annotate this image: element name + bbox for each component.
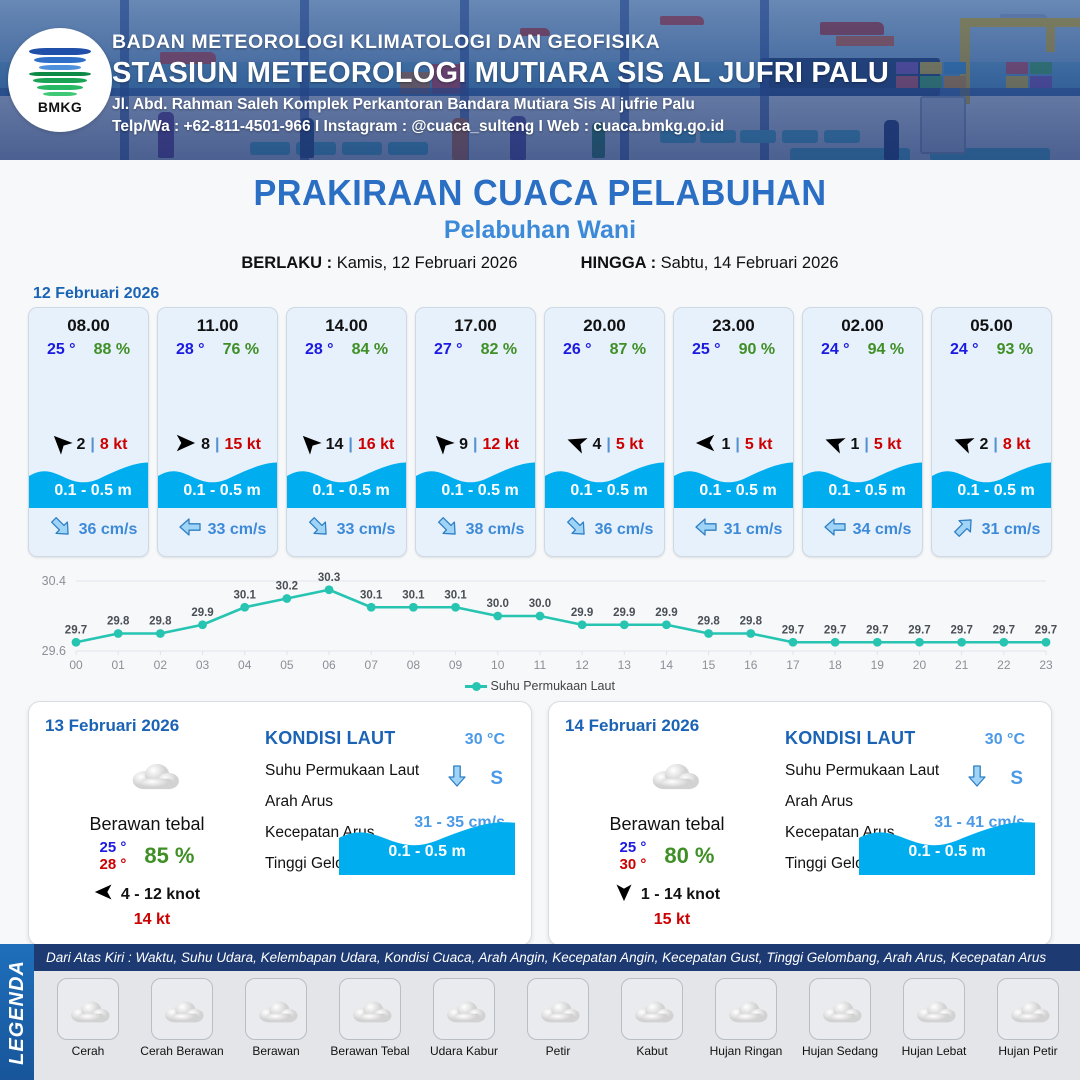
legend-item-label: Kabut xyxy=(636,1044,667,1058)
panel-left-column: Berawan tebal 25 ° 30 ° 80 % 1 - 14 knot… xyxy=(567,742,767,929)
svg-text:29.9: 29.9 xyxy=(571,607,593,619)
legend-item-label: Hujan Petir xyxy=(998,1044,1057,1058)
svg-text:30.2: 30.2 xyxy=(276,581,298,593)
wind-direction-value: 9 xyxy=(459,436,468,454)
wind-direction-arrow-icon xyxy=(432,432,454,459)
svg-text:17: 17 xyxy=(786,658,800,672)
svg-text:23: 23 xyxy=(1039,658,1053,672)
card-temp-hum: 25 ° 90 % xyxy=(692,341,775,359)
sea-label-sst: Suhu Permukaan Laut xyxy=(265,762,517,780)
current-direction-arrow-icon xyxy=(49,515,73,544)
legend-icon-row: Cerah Cerah Berawan Berawan Berawan Teba… xyxy=(34,971,1080,1058)
sea-condition-block: KONDISI LAUT Suhu Permukaan Laut Arah Ar… xyxy=(265,728,517,873)
svg-text:08: 08 xyxy=(407,658,421,672)
wave-height-value: 0.1 - 0.5 m xyxy=(932,482,1052,500)
svg-text:19: 19 xyxy=(871,658,885,672)
valid-to-label: HINGGA : xyxy=(581,254,656,272)
bmkg-logo: BMKG xyxy=(8,28,112,132)
weather-hujan-lebat-icon xyxy=(903,978,965,1040)
panel-gust: 14 kt xyxy=(57,911,247,929)
svg-text:04: 04 xyxy=(238,658,252,672)
panel-wind: 1 - 14 knot xyxy=(567,882,767,907)
legend-item: Hujan Lebat xyxy=(890,978,978,1058)
legend-item-label: Hujan Lebat xyxy=(902,1044,967,1058)
wind-gust-value: 8 kt xyxy=(1003,436,1031,454)
card-time: 02.00 xyxy=(841,316,884,336)
svg-text:20: 20 xyxy=(913,658,927,672)
svg-text:29.9: 29.9 xyxy=(191,607,213,619)
current-direction-arrow-icon xyxy=(694,515,718,544)
weather-udara-kabur-icon xyxy=(803,365,922,427)
legend-item: Udara Kabur xyxy=(420,978,508,1058)
svg-text:03: 03 xyxy=(196,658,210,672)
current-direction-arrow-icon xyxy=(307,515,331,544)
svg-text:06: 06 xyxy=(322,658,336,672)
hourly-card: 11.00 28 ° 76 % 8 | 15 kt 0.1 - 0.5 m 33… xyxy=(157,307,278,557)
card-humidity: 87 % xyxy=(610,341,646,359)
panel-temp-range: 25 ° 28 ° xyxy=(99,839,126,873)
legend-item-label: Hujan Ringan xyxy=(710,1044,783,1058)
weather-hujan-sedang-icon xyxy=(809,978,871,1040)
wind-separator: | xyxy=(348,436,352,454)
wind-gust-value: 16 kt xyxy=(358,436,394,454)
legend-item: Hujan Ringan xyxy=(702,978,790,1058)
station-name: STASIUN METEOROLOGI MUTIARA SIS AL JUFRI… xyxy=(112,55,1072,91)
card-wind: 14 | 16 kt xyxy=(299,433,395,457)
current-speed-value: 36 cm/s xyxy=(79,521,138,539)
current-direction-arrow-icon xyxy=(178,515,202,544)
valid-from-label: BERLAKU : xyxy=(241,254,332,272)
card-temperature: 28 ° xyxy=(176,341,205,359)
svg-text:30.1: 30.1 xyxy=(234,589,257,601)
legend-item-label: Udara Kabur xyxy=(430,1044,498,1058)
card-current: 33 cm/s xyxy=(287,515,407,544)
hourly-card: 02.00 24 ° 94 % 1 | 5 kt 0.1 - 0.5 m 34 … xyxy=(802,307,923,557)
svg-text:29.7: 29.7 xyxy=(950,624,972,636)
card-temperature: 24 ° xyxy=(950,341,979,359)
wind-gust-value: 15 kt xyxy=(224,436,260,454)
current-speed-value: 36 cm/s xyxy=(595,521,654,539)
legend-item: Berawan xyxy=(232,978,320,1058)
wind-direction-value: 1 xyxy=(722,436,731,454)
legend-item: Petir xyxy=(514,978,602,1058)
legend-item-label: Cerah xyxy=(72,1044,105,1058)
card-current: 31 cm/s xyxy=(932,515,1052,544)
svg-text:29.8: 29.8 xyxy=(740,616,763,628)
wind-separator: | xyxy=(735,436,739,454)
hourly-card: 17.00 27 ° 82 % 9 | 12 kt 0.1 - 0.5 m 38… xyxy=(415,307,536,557)
card-temperature: 25 ° xyxy=(47,341,76,359)
current-direction-arrow-icon xyxy=(565,515,589,544)
wave-height-value: 0.1 - 0.5 m xyxy=(158,482,278,500)
legend-item-label: Berawan xyxy=(252,1044,299,1058)
weather-berawan-tebal-icon xyxy=(339,978,401,1040)
wind-direction-value: 14 xyxy=(326,436,344,454)
svg-text:29.8: 29.8 xyxy=(149,616,172,628)
weather-hujan-ringan-icon xyxy=(932,365,1051,427)
page-header: BMKG BADAN METEOROLOGI KLIMATOLOGI DAN G… xyxy=(0,0,1080,160)
wind-direction-value: 2 xyxy=(980,436,989,454)
legend-item-label: Hujan Sedang xyxy=(802,1044,878,1058)
legend-item: Cerah xyxy=(44,978,132,1058)
svg-text:30.0: 30.0 xyxy=(487,598,509,610)
card-temp-hum: 27 ° 82 % xyxy=(434,341,517,359)
wave-height-value: 0.1 - 0.5 m xyxy=(29,482,149,500)
panel-left-column: Berawan tebal 25 ° 28 ° 85 % 4 - 12 knot… xyxy=(47,742,247,929)
hourly-day-label: 12 Februari 2026 xyxy=(33,285,1080,303)
legend-item: Hujan Sedang xyxy=(796,978,884,1058)
panel-temp-max: 30 ° xyxy=(619,856,646,873)
panel-humidity: 85 % xyxy=(144,843,194,869)
wind-direction-arrow-icon xyxy=(50,432,72,459)
card-humidity: 88 % xyxy=(94,341,130,359)
sea-current-direction-arrow-icon xyxy=(445,764,469,793)
card-temperature: 24 ° xyxy=(821,341,850,359)
svg-text:29.9: 29.9 xyxy=(655,607,677,619)
svg-text:16: 16 xyxy=(744,658,758,672)
bmkg-logo-text: BMKG xyxy=(38,99,82,115)
hourly-card: 08.00 25 ° 88 % 2 | 8 kt 0.1 - 0.5 m 36 … xyxy=(28,307,149,557)
wind-direction-arrow-icon xyxy=(953,432,975,459)
hourly-card: 05.00 24 ° 93 % 2 | 8 kt 0.1 - 0.5 m 31 … xyxy=(931,307,1052,557)
wind-separator: | xyxy=(606,436,610,454)
current-speed-value: 38 cm/s xyxy=(466,521,525,539)
wave-height-value: 0.1 - 0.5 m xyxy=(803,482,923,500)
card-time: 11.00 xyxy=(197,316,239,336)
svg-text:05: 05 xyxy=(280,658,294,672)
sea-value-sst: 30 °C xyxy=(985,731,1025,749)
card-wind: 1 | 5 kt xyxy=(695,433,773,457)
legend-body: Dari Atas Kiri : Waktu, Suhu Udara, Kele… xyxy=(34,944,1080,1080)
weather-udara-kabur-icon xyxy=(433,978,495,1040)
weather-berawan-icon xyxy=(545,365,664,427)
wind-direction-arrow-icon xyxy=(174,432,196,459)
card-temperature: 26 ° xyxy=(563,341,592,359)
wind-direction-arrow-icon xyxy=(94,882,114,907)
valid-from-value: Kamis, 12 Februari 2026 xyxy=(337,254,518,272)
daily-forecast-panel: 14 Februari 2026 Berawan tebal 25 ° 30 °… xyxy=(548,701,1052,946)
card-temp-hum: 26 ° 87 % xyxy=(563,341,646,359)
sea-value-wave-height: 0.1 - 0.5 m xyxy=(859,843,1035,861)
sea-label-current-direction: Arah Arus xyxy=(785,793,1037,811)
svg-text:29.9: 29.9 xyxy=(613,607,635,619)
current-direction-arrow-icon xyxy=(436,515,460,544)
svg-text:29.7: 29.7 xyxy=(908,624,930,636)
panel-gust: 15 kt xyxy=(577,911,767,929)
panel-temp-max: 28 ° xyxy=(99,856,126,873)
legend-item-label: Cerah Berawan xyxy=(140,1044,223,1058)
legend-item-label: Petir xyxy=(546,1044,571,1058)
panel-temp-min: 25 ° xyxy=(99,839,126,856)
sea-value-sst: 30 °C xyxy=(465,731,505,749)
sea-label-current-direction: Arah Arus xyxy=(265,793,517,811)
wind-gust-value: 5 kt xyxy=(616,436,644,454)
legend-sidebar: LEGENDA xyxy=(0,944,34,1080)
wind-direction-arrow-icon xyxy=(299,432,321,459)
card-wind: 9 | 12 kt xyxy=(432,433,519,457)
wind-direction-value: 8 xyxy=(201,436,210,454)
card-humidity: 84 % xyxy=(352,341,388,359)
weather-berawan-tebal-icon xyxy=(579,742,767,804)
bmkg-logo-mark xyxy=(29,46,91,98)
wind-separator: | xyxy=(864,436,868,454)
legend-item-label: Berawan Tebal xyxy=(330,1044,409,1058)
hourly-card: 23.00 25 ° 90 % 1 | 5 kt 0.1 - 0.5 m 31 … xyxy=(673,307,794,557)
sea-condition-block: KONDISI LAUT Suhu Permukaan Laut Arah Ar… xyxy=(785,728,1037,873)
svg-text:00: 00 xyxy=(69,658,83,672)
svg-text:09: 09 xyxy=(449,658,463,672)
weather-cerah-berawan-icon xyxy=(416,365,535,427)
svg-text:30.4: 30.4 xyxy=(42,574,66,588)
legend-caption: Dari Atas Kiri : Waktu, Suhu Udara, Kele… xyxy=(34,944,1080,971)
card-time: 08.00 xyxy=(67,316,110,336)
wind-separator: | xyxy=(90,436,94,454)
header-text-block: BADAN METEOROLOGI KLIMATOLOGI DAN GEOFIS… xyxy=(112,30,1072,138)
wind-direction-value: 4 xyxy=(593,436,602,454)
hourly-card: 14.00 28 ° 84 % 14 | 16 kt 0.1 - 0.5 m 3… xyxy=(286,307,407,557)
svg-text:10: 10 xyxy=(491,658,505,672)
svg-text:29.6: 29.6 xyxy=(42,644,66,658)
card-temp-hum: 28 ° 76 % xyxy=(176,341,259,359)
panel-humidity: 80 % xyxy=(664,843,714,869)
sea-current-direction-arrow-icon xyxy=(965,764,989,793)
svg-text:29.7: 29.7 xyxy=(1035,624,1057,636)
weather-hujan-petir-icon xyxy=(997,978,1059,1040)
page-title: PRAKIRAAN CUACA PELABUHAN xyxy=(27,172,1053,214)
weather-berawan-icon xyxy=(29,365,148,427)
weather-berawan-sun-icon xyxy=(245,978,307,1040)
weather-cerah-icon xyxy=(57,978,119,1040)
title-block: PRAKIRAAN CUACA PELABUHAN Pelabuhan Wani… xyxy=(0,160,1080,273)
wind-direction-arrow-icon xyxy=(614,882,634,907)
card-current: 31 cm/s xyxy=(674,515,794,544)
daily-forecast-panel: 13 Februari 2026 Berawan tebal 25 ° 28 °… xyxy=(28,701,532,946)
card-time: 23.00 xyxy=(712,316,755,336)
svg-text:22: 22 xyxy=(997,658,1011,672)
card-wind: 8 | 15 kt xyxy=(174,433,261,457)
wind-gust-value: 8 kt xyxy=(100,436,128,454)
svg-text:13: 13 xyxy=(618,658,632,672)
card-time: 17.00 xyxy=(454,316,497,336)
wind-direction-value: 1 xyxy=(851,436,860,454)
svg-text:29.7: 29.7 xyxy=(824,624,846,636)
svg-text:21: 21 xyxy=(955,658,969,672)
current-speed-value: 33 cm/s xyxy=(337,521,396,539)
card-temp-hum: 25 ° 88 % xyxy=(47,341,130,359)
svg-text:30.3: 30.3 xyxy=(318,572,340,584)
wind-separator: | xyxy=(993,436,997,454)
wave-height-value: 0.1 - 0.5 m xyxy=(416,482,536,500)
card-temperature: 27 ° xyxy=(434,341,463,359)
current-speed-value: 34 cm/s xyxy=(853,521,912,539)
wind-gust-value: 12 kt xyxy=(482,436,518,454)
svg-text:14: 14 xyxy=(660,658,674,672)
panel-temp-hum: 25 ° 30 ° 80 % xyxy=(567,839,767,873)
current-direction-arrow-icon xyxy=(952,515,976,544)
panel-wind-range: 4 - 12 knot xyxy=(121,886,200,904)
weather-hujan-ringan-icon xyxy=(715,978,777,1040)
card-temp-hum: 24 ° 94 % xyxy=(821,341,904,359)
wind-direction-arrow-icon xyxy=(695,432,717,459)
hourly-forecast-row: 08.00 25 ° 88 % 2 | 8 kt 0.1 - 0.5 m 36 … xyxy=(0,307,1080,557)
card-humidity: 93 % xyxy=(997,341,1033,359)
card-wind: 1 | 5 kt xyxy=(824,433,902,457)
sea-value-wave-height: 0.1 - 0.5 m xyxy=(339,843,515,861)
wind-direction-arrow-icon xyxy=(824,432,846,459)
panel-temp-range: 25 ° 30 ° xyxy=(619,839,646,873)
validity-row: BERLAKU : Kamis, 12 Februari 2026 HINGGA… xyxy=(0,254,1080,273)
svg-text:30.0: 30.0 xyxy=(529,598,551,610)
card-current: 34 cm/s xyxy=(803,515,923,544)
svg-text:30.1: 30.1 xyxy=(444,589,467,601)
legend-sidebar-title: LEGENDA xyxy=(6,960,29,1065)
hourly-card: 20.00 26 ° 87 % 4 | 5 kt 0.1 - 0.5 m 36 … xyxy=(544,307,665,557)
svg-text:07: 07 xyxy=(365,658,379,672)
svg-text:29.7: 29.7 xyxy=(65,624,87,636)
current-speed-value: 31 cm/s xyxy=(724,521,783,539)
panel-wind-range: 1 - 14 knot xyxy=(641,886,720,904)
daily-forecast-row: 13 Februari 2026 Berawan tebal 25 ° 28 °… xyxy=(0,693,1080,946)
weather-kabut-icon xyxy=(621,978,683,1040)
station-contact: Telp/Wa : +62-811-4501-966 I Instagram :… xyxy=(112,116,1072,138)
card-wind: 2 | 8 kt xyxy=(953,433,1031,457)
card-temperature: 28 ° xyxy=(305,341,334,359)
card-current: 36 cm/s xyxy=(29,515,149,544)
current-speed-value: 31 cm/s xyxy=(982,521,1041,539)
card-temp-hum: 28 ° 84 % xyxy=(305,341,388,359)
panel-temp-hum: 25 ° 28 ° 85 % xyxy=(47,839,247,873)
org-name: BADAN METEOROLOGI KLIMATOLOGI DAN GEOFIS… xyxy=(112,30,1072,54)
legend-item: Berawan Tebal xyxy=(326,978,414,1058)
svg-text:15: 15 xyxy=(702,658,716,672)
svg-text:29.8: 29.8 xyxy=(697,616,720,628)
svg-text:30.1: 30.1 xyxy=(402,589,425,601)
wind-separator: | xyxy=(473,436,477,454)
card-temp-hum: 24 ° 93 % xyxy=(950,341,1033,359)
sea-label-sst: Suhu Permukaan Laut xyxy=(785,762,1037,780)
svg-text:29.8: 29.8 xyxy=(107,616,130,628)
legend-item: Kabut xyxy=(608,978,696,1058)
weather-hujan-ringan-icon xyxy=(287,365,406,427)
port-name: Pelabuhan Wani xyxy=(0,216,1080,245)
svg-text:02: 02 xyxy=(154,658,168,672)
panel-temp-min: 25 ° xyxy=(619,839,646,856)
card-temperature: 25 ° xyxy=(692,341,721,359)
sst-chart: 30.429.629.70029.80129.80229.90330.10430… xyxy=(20,567,1060,685)
current-speed-value: 33 cm/s xyxy=(208,521,267,539)
panel-condition: Berawan tebal xyxy=(47,814,247,835)
legend-item: Cerah Berawan xyxy=(138,978,226,1058)
card-humidity: 76 % xyxy=(223,341,259,359)
weather-cerah-berawan-icon xyxy=(158,365,277,427)
wave-height-value: 0.1 - 0.5 m xyxy=(545,482,665,500)
weather-berawan-tebal-icon xyxy=(59,742,247,804)
card-wind: 2 | 8 kt xyxy=(50,433,128,457)
wave-height-value: 0.1 - 0.5 m xyxy=(287,482,407,500)
weather-cerah-berawan-icon xyxy=(151,978,213,1040)
card-current: 33 cm/s xyxy=(158,515,278,544)
card-humidity: 90 % xyxy=(739,341,775,359)
wind-separator: | xyxy=(215,436,219,454)
sea-value-current-direction: S xyxy=(1010,768,1023,790)
card-time: 05.00 xyxy=(970,316,1013,336)
wind-direction-value: 2 xyxy=(77,436,86,454)
svg-text:30.1: 30.1 xyxy=(360,589,383,601)
svg-text:29.7: 29.7 xyxy=(866,624,888,636)
svg-text:11: 11 xyxy=(534,658,547,672)
card-time: 14.00 xyxy=(325,316,368,336)
wind-gust-value: 5 kt xyxy=(745,436,773,454)
chart-legend-marker xyxy=(465,685,487,688)
weather-cerah-berawan-icon xyxy=(674,365,793,427)
svg-text:01: 01 xyxy=(111,658,125,672)
valid-to-value: Sabtu, 14 Februari 2026 xyxy=(661,254,839,272)
legend-item: Hujan Petir xyxy=(984,978,1072,1058)
station-address: Jl. Abd. Rahman Saleh Komplek Perkantora… xyxy=(112,94,1072,116)
card-humidity: 94 % xyxy=(868,341,904,359)
sst-chart-svg: 30.429.629.70029.80129.80229.90330.10430… xyxy=(20,567,1060,685)
weather-petir-icon xyxy=(527,978,589,1040)
current-direction-arrow-icon xyxy=(823,515,847,544)
panel-condition: Berawan tebal xyxy=(567,814,767,835)
card-current: 38 cm/s xyxy=(416,515,536,544)
wind-gust-value: 5 kt xyxy=(874,436,902,454)
legend-section: LEGENDA Dari Atas Kiri : Waktu, Suhu Uda… xyxy=(0,944,1080,1080)
svg-text:29.7: 29.7 xyxy=(782,624,804,636)
card-current: 36 cm/s xyxy=(545,515,665,544)
panel-wind: 4 - 12 knot xyxy=(47,882,247,907)
card-humidity: 82 % xyxy=(481,341,517,359)
svg-text:29.7: 29.7 xyxy=(993,624,1015,636)
wave-height-value: 0.1 - 0.5 m xyxy=(674,482,794,500)
svg-text:18: 18 xyxy=(828,658,842,672)
wind-direction-arrow-icon xyxy=(566,432,588,459)
svg-text:12: 12 xyxy=(575,658,589,672)
card-wind: 4 | 5 kt xyxy=(566,433,644,457)
card-time: 20.00 xyxy=(583,316,626,336)
sea-value-current-direction: S xyxy=(490,768,503,790)
